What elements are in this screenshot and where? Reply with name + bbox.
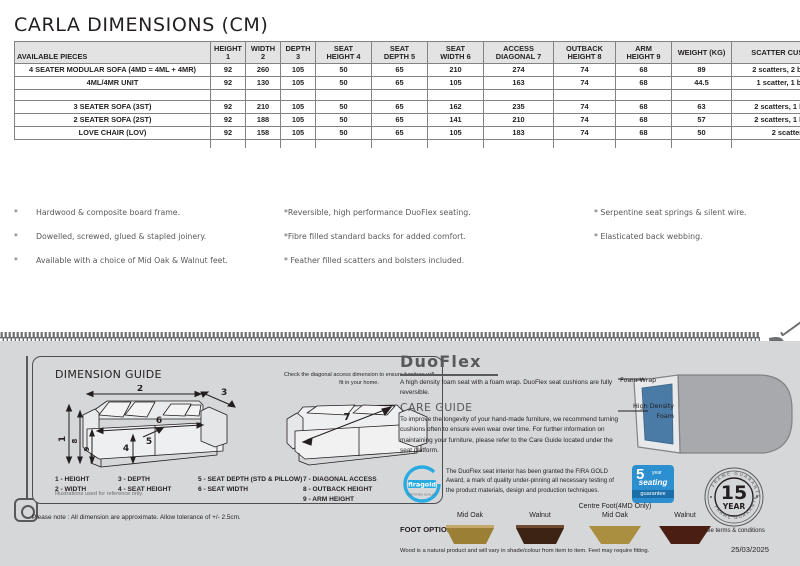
foot-caption-2: Walnut [510, 512, 570, 519]
col-header-line2: HEIGHT 8 [555, 53, 614, 61]
wood-note: Wood is a natural product and will vary … [400, 548, 649, 554]
cell-seat-depth [372, 90, 428, 101]
legend-column-4: 7 - DIAGONAL ACCESS 8 - OUTBACK HEIGHT 9… [303, 475, 377, 506]
cell-tail [246, 140, 281, 148]
callout-1: 1 [58, 436, 68, 442]
cell-seat-width: 162 [428, 101, 484, 114]
cell-access-diagonal: 210 [484, 114, 554, 127]
feature-text: Hardwood & composite board frame. [36, 208, 284, 217]
cell-tail [372, 140, 428, 148]
feature-item: *Fibre filled standard backs for added c… [284, 232, 594, 241]
col-header-line1: AVAILABLE PIECES [17, 53, 209, 61]
col-header-width: WIDTH 2 [246, 42, 281, 64]
table-row: 4ML/4MR UNIT 92 130 105 50 65 105 163 74… [15, 77, 800, 90]
duoflex-description: A high density foam seat with a foam wra… [400, 378, 615, 399]
feature-text: *Fibre filled standard backs for added c… [284, 232, 594, 241]
callout-9: 9 [83, 446, 91, 451]
cell-depth: 105 [281, 64, 316, 77]
feature-text: * Serpentine seat springs & silent wire. [594, 208, 794, 217]
feature-list-column-2: *Reversible, high performance DuoFlex se… [284, 208, 594, 280]
cell-width: 260 [246, 64, 281, 77]
cell-seat-depth: 65 [372, 127, 428, 140]
callout-2: 2 [137, 385, 143, 394]
feature-text: Dowelled, screwed, glued & stapled joine… [36, 232, 284, 241]
seal5-seating-label: seating [632, 478, 674, 487]
cell-height: 92 [211, 101, 246, 114]
seal5-guarantee-label: guarantee [632, 490, 674, 498]
table-row: 2 SEATER SOFA (2ST) 92 188 105 50 65 141… [15, 114, 800, 127]
cell-scatter: 1 scatter, 1 bolster [732, 77, 800, 90]
table-row: LOVE CHAIR (LOV) 92 158 105 50 65 105 18… [15, 127, 800, 140]
cell-piece: 4 SEATER MODULAR SOFA (4MD = 4ML + 4MR) [15, 64, 211, 77]
legend-item: 8 - OUTBACK HEIGHT [303, 485, 377, 495]
cell-access-diagonal: 235 [484, 101, 554, 114]
feature-list-column-1: * Hardwood & composite board frame. * Do… [14, 208, 284, 280]
col-header-line2: WIDTH 6 [429, 53, 482, 61]
cell-access-diagonal: 274 [484, 64, 554, 77]
cell-width: 210 [246, 101, 281, 114]
cell-piece [15, 90, 211, 101]
cell-seat-height: 50 [316, 64, 372, 77]
seal5-year-label: year [652, 470, 662, 476]
cell-tail [616, 140, 672, 148]
duoflex-title: DuoFlex [400, 352, 482, 371]
feature-text: * Elasticated back webbing. [594, 232, 794, 241]
feature-item: * Dowelled, screwed, glued & stapled joi… [14, 232, 284, 241]
cell-depth: 105 [281, 101, 316, 114]
cell-seat-width: 105 [428, 77, 484, 90]
cell-width: 130 [246, 77, 281, 90]
table-header-row: AVAILABLE PIECES HEIGHT 1 WIDTH 2 DEPTH … [15, 42, 800, 64]
feature-text: * Feather filled scatters and bolsters i… [284, 256, 594, 265]
cell-seat-height [316, 90, 372, 101]
legend-item: 7 - DIAGONAL ACCESS [303, 475, 377, 485]
cell-depth [281, 90, 316, 101]
datasheet-page: CARLA DIMENSIONS (CM) AVAILABLE PIECES H… [0, 0, 800, 566]
col-header-access-diagonal: ACCESS DIAGONAL 7 [484, 42, 554, 64]
please-note: Please note : All dimension are approxim… [32, 514, 241, 521]
cell-outback-height: 74 [554, 101, 616, 114]
cell-piece: 4ML/4MR UNIT [15, 77, 211, 90]
cell-seat-height: 50 [316, 114, 372, 127]
bullet-icon: * [14, 256, 36, 265]
cell-tail [281, 140, 316, 148]
cell-seat-width [428, 90, 484, 101]
col-header-weight: WEIGHT (KG) [672, 42, 732, 64]
cell-seat-width: 141 [428, 114, 484, 127]
cell-weight: 63 [672, 101, 732, 114]
feature-item: * Feather filled scatters and bolsters i… [284, 256, 594, 265]
bullet-icon: * [14, 232, 36, 241]
cell-outback-height: 74 [554, 114, 616, 127]
cell-arm-height [616, 90, 672, 101]
cell-access-diagonal [484, 90, 554, 101]
cell-tail [316, 140, 372, 148]
illustration-note: Illustrations used for reference only. [55, 491, 143, 497]
care-guide-title: CARE GUIDE [400, 401, 473, 414]
cell-arm-height: 68 [616, 77, 672, 90]
legend-item: 3 - DEPTH [118, 475, 171, 485]
foot-swatch-mid-oak [444, 524, 496, 544]
cell-arm-height: 68 [616, 101, 672, 114]
cell-piece: 3 SEATER SOFA (3ST) [15, 101, 211, 114]
callout-5: 5 [146, 437, 152, 447]
cell-height: 92 [211, 114, 246, 127]
cell-arm-height: 68 [616, 114, 672, 127]
cell-seat-height: 50 [316, 101, 372, 114]
feature-item: * Elasticated back webbing. [594, 232, 794, 241]
cell-height [211, 90, 246, 101]
col-header-line2: DEPTH 5 [373, 53, 426, 61]
feature-item: * Available with a choice of Mid Oak & W… [14, 256, 284, 265]
feature-list-column-3: * Serpentine seat springs & silent wire.… [594, 208, 794, 256]
cell-tail [554, 140, 616, 148]
legend-column-3: 5 - SEAT DEPTH (STD & PILLOW) 6 - SEAT W… [198, 475, 302, 495]
col-header-scatter-cushions: SCATTER CUSHIONS [732, 42, 800, 64]
label-foam-wrap: Foam Wrap [620, 376, 656, 384]
cell-seat-height: 50 [316, 127, 372, 140]
legend-item: 1 - HEIGHT [55, 475, 89, 485]
cell-weight: 44.5 [672, 77, 732, 90]
foot-swatch-centre-mid-oak [589, 524, 641, 544]
col-header-line2: HEIGHT 9 [617, 53, 670, 61]
callout-7: 7 [344, 412, 351, 423]
zipper-tape-line [26, 356, 28, 504]
cell-height: 92 [211, 64, 246, 77]
col-header-line2: 3 [282, 53, 314, 61]
cell-depth: 105 [281, 77, 316, 90]
cell-seat-width: 105 [428, 127, 484, 140]
duoflex-underline [400, 374, 498, 376]
cell-seat-depth: 65 [372, 77, 428, 90]
feature-item: * Serpentine seat springs & silent wire. [594, 208, 794, 217]
cell-outback-height [554, 90, 616, 101]
col-header-outback-height: OUTBACK HEIGHT 8 [554, 42, 616, 64]
feature-item: *Reversible, high performance DuoFlex se… [284, 208, 594, 217]
col-header-line1: WEIGHT (KG) [673, 49, 730, 57]
cell-weight: 89 [672, 64, 732, 77]
cell-outback-height: 74 [554, 127, 616, 140]
cell-seat-width: 210 [428, 64, 484, 77]
cell-seat-height: 50 [316, 77, 372, 90]
foot-caption-3: Mid Oak [585, 512, 645, 519]
seal15-unit: YEAR [722, 502, 746, 511]
dimension-guide-panel: DIMENSION GUIDE Check the diagonal acces… [32, 356, 443, 504]
col-header-seat-width: SEAT WIDTH 6 [428, 42, 484, 64]
foot-caption-4: Walnut [655, 512, 715, 519]
care-guide-description: To improve the longevity of your hand-ma… [400, 415, 622, 456]
legend-item: 5 - SEAT DEPTH (STD & PILLOW) [198, 475, 302, 485]
cell-depth: 105 [281, 127, 316, 140]
callout-3: 3 [221, 388, 227, 398]
firagold-logo-icon: firagold CERTIFIED QUALITY [401, 464, 443, 504]
col-header-line2: 2 [247, 53, 279, 61]
cell-tail [484, 140, 554, 148]
col-header-line1: SCATTER CUSHIONS [733, 49, 800, 57]
cell-width [246, 90, 281, 101]
cell-scatter: 2 scatters, 2 bolsters [732, 64, 800, 77]
dimensions-table-container: AVAILABLE PIECES HEIGHT 1 WIDTH 2 DEPTH … [14, 41, 786, 148]
callout-8: 8 [71, 438, 79, 443]
cell-depth: 105 [281, 114, 316, 127]
dimension-guide-title: DIMENSION GUIDE [55, 368, 162, 381]
svg-text:CERTIFIED QUALITY: CERTIFIED QUALITY [407, 493, 436, 497]
feature-text: *Reversible, high performance DuoFlex se… [284, 208, 594, 217]
col-header-available-pieces: AVAILABLE PIECES [15, 42, 211, 64]
table-row: 4 SEATER MODULAR SOFA (4MD = 4ML + 4MR) … [15, 64, 800, 77]
col-header-height: HEIGHT 1 [211, 42, 246, 64]
col-header-depth: DEPTH 3 [281, 42, 316, 64]
cell-scatter: 2 scatters, 1 bolster [732, 114, 800, 127]
centre-foot-caption: Centre Foot(4MD Only) [565, 503, 665, 510]
cell-weight: 57 [672, 114, 732, 127]
cell-width: 158 [246, 127, 281, 140]
callout-4: 4 [123, 444, 129, 454]
cell-height: 92 [211, 127, 246, 140]
cell-access-diagonal: 183 [484, 127, 554, 140]
table-row-tail [15, 140, 800, 148]
feature-text: Available with a choice of Mid Oak & Wal… [36, 256, 284, 265]
dimensions-table: AVAILABLE PIECES HEIGHT 1 WIDTH 2 DEPTH … [14, 41, 800, 148]
cell-seat-depth: 65 [372, 64, 428, 77]
col-header-seat-height: SEAT HEIGHT 4 [316, 42, 372, 64]
cell-scatter: 2 scatters [732, 127, 800, 140]
cell-arm-height: 68 [616, 127, 672, 140]
cell-tail-piece [15, 140, 211, 148]
cell-outback-height: 74 [554, 64, 616, 77]
page-title: CARLA DIMENSIONS (CM) [14, 14, 268, 36]
five-year-seating-guarantee-badge: 5 year seating guarantee [632, 465, 674, 503]
cell-arm-height: 68 [616, 64, 672, 77]
cell-scatter [732, 90, 800, 101]
foot-caption-1: Mid Oak [440, 512, 500, 519]
cell-tail [732, 140, 800, 148]
label-high-density-foam: High Density Foam [618, 402, 674, 421]
cell-width: 188 [246, 114, 281, 127]
col-header-line2: 1 [212, 53, 244, 61]
cell-seat-depth: 65 [372, 114, 428, 127]
cell-tail [211, 140, 246, 148]
table-row: 3 SEATER SOFA (3ST) 92 210 105 50 65 162… [15, 101, 800, 114]
firagold-wordmark: firagold [408, 481, 436, 489]
cell-piece: 2 SEATER SOFA (2ST) [15, 114, 211, 127]
legend-item: 6 - SEAT WIDTH [198, 485, 302, 495]
cell-access-diagonal: 163 [484, 77, 554, 90]
sofa-illustration-front: 2 3 1 8 9 6 5 4 [51, 385, 281, 473]
col-header-seat-depth: SEAT DEPTH 5 [372, 42, 428, 64]
cell-tail [672, 140, 732, 148]
bullet-icon: * [14, 208, 36, 217]
cell-outback-height: 74 [554, 77, 616, 90]
cell-weight [672, 90, 732, 101]
foot-swatch-walnut [514, 524, 566, 544]
callout-6: 6 [156, 416, 162, 426]
cell-scatter: 2 scatters, 1 bolster [732, 101, 800, 114]
fira-description: The DuoFlex seat interior has been grant… [446, 467, 618, 495]
cell-seat-depth: 65 [372, 101, 428, 114]
col-header-arm-height: ARM HEIGHT 9 [616, 42, 672, 64]
date-stamp: 25/03/2025 [731, 545, 769, 554]
legend-item: 9 - ARM HEIGHT [303, 495, 377, 505]
seal15-number: 15 [721, 482, 747, 504]
col-header-line2: HEIGHT 4 [317, 53, 370, 61]
cell-weight: 50 [672, 127, 732, 140]
col-header-line2: DIAGONAL 7 [485, 53, 552, 61]
cell-piece: LOVE CHAIR (LOV) [15, 127, 211, 140]
foot-swatch-centre-walnut [659, 524, 711, 544]
feature-item: * Hardwood & composite board frame. [14, 208, 284, 217]
cell-height: 92 [211, 77, 246, 90]
cell-tail [428, 140, 484, 148]
table-row-spacer [15, 90, 800, 101]
